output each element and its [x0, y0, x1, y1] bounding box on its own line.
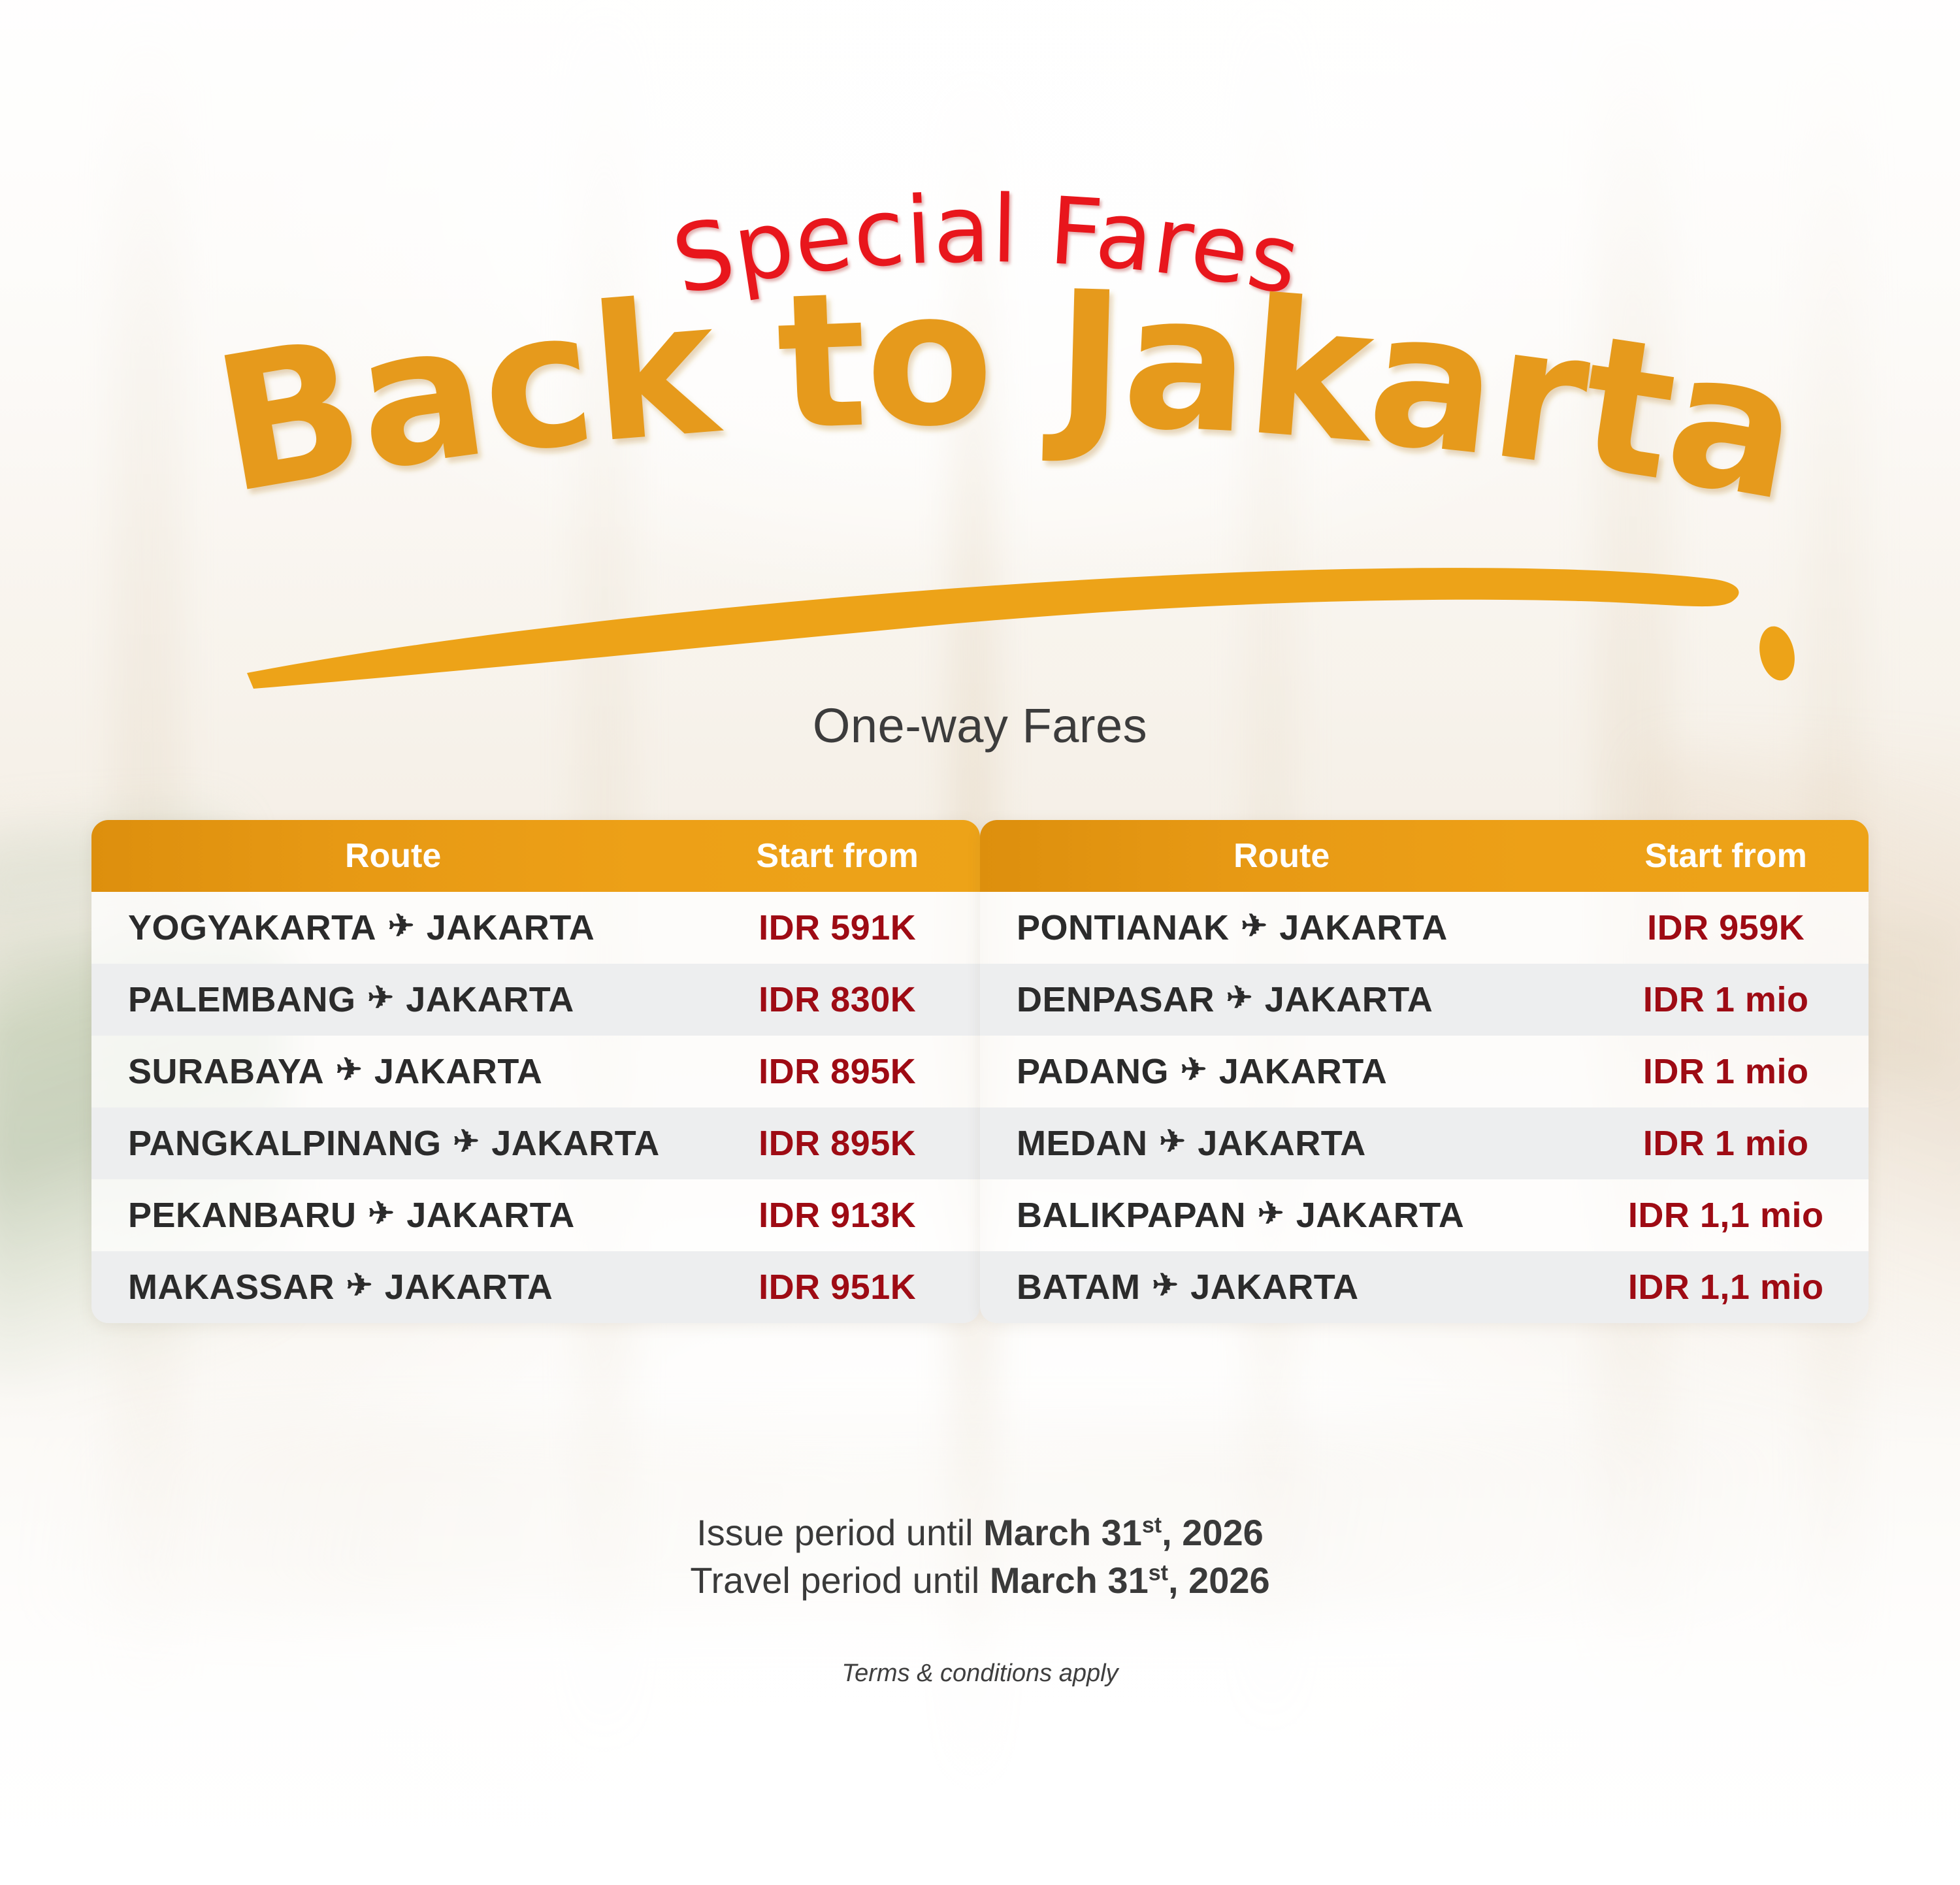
table-row[interactable]: BATAM ✈ JAKARTA IDR 1,1 mio [980, 1251, 1869, 1323]
right-header-route: Route [980, 836, 1583, 876]
route-cell: MAKASSAR ✈ JAKARTA [91, 1267, 694, 1307]
price-cell: IDR 895K [694, 1123, 980, 1164]
destination-label: JAKARTA [1198, 1123, 1366, 1164]
origin-label: DENPASAR [1017, 979, 1215, 1020]
destination-label: JAKARTA [406, 979, 574, 1020]
fare-tables-container: Route Start from YOGYAKARTA ✈ JAKARTA ID… [91, 820, 1869, 1323]
origin-label: SURABAYA [128, 1051, 324, 1092]
airplane-icon: ✈ [388, 911, 415, 942]
left-header-route: Route [91, 836, 694, 876]
promo-poster: Special Fares Back to Jakarta One-way Fa… [0, 0, 1960, 1885]
destination-label: JAKARTA [1265, 979, 1433, 1020]
airplane-icon: ✈ [1258, 1198, 1284, 1230]
route-cell: YOGYAKARTA ✈ JAKARTA [91, 908, 694, 948]
route-cell: MEDAN ✈ JAKARTA [980, 1123, 1583, 1164]
route-cell: PALEMBANG ✈ JAKARTA [91, 979, 694, 1020]
airplane-icon: ✈ [1152, 1270, 1179, 1302]
headline-textpath: Back to Jakarta [201, 250, 1811, 543]
table-row[interactable]: MAKASSAR ✈ JAKARTA IDR 951K [91, 1251, 980, 1323]
headline-block: Special Fares Back to Jakarta [0, 0, 1960, 706]
airplane-icon: ✈ [1181, 1055, 1207, 1086]
table-row[interactable]: PADANG ✈ JAKARTA IDR 1 mio [980, 1036, 1869, 1107]
route-cell: PONTIANAK ✈ JAKARTA [980, 908, 1583, 948]
destination-label: JAKARTA [1279, 908, 1448, 948]
swoosh-underline [247, 568, 1739, 689]
route-cell: DENPASAR ✈ JAKARTA [980, 979, 1583, 1020]
price-cell: IDR 1 mio [1583, 1123, 1869, 1164]
origin-label: PANGKALPINANG [128, 1123, 442, 1164]
destination-label: JAKARTA [385, 1267, 553, 1307]
airplane-icon: ✈ [453, 1126, 480, 1158]
terms-and-conditions-note: Terms & conditions apply [0, 1660, 1960, 1688]
table-row[interactable]: PEKANBARU ✈ JAKARTA IDR 913K [91, 1179, 980, 1251]
destination-label: JAKARTA [1296, 1195, 1465, 1236]
travel-period-year: , 2026 [1168, 1560, 1270, 1601]
destination-label: JAKARTA [491, 1123, 660, 1164]
price-cell: IDR 830K [694, 979, 980, 1020]
origin-label: YOGYAKARTA [128, 908, 376, 948]
travel-period-date: March 31 [990, 1560, 1149, 1601]
left-table-header-row: Route Start from [91, 820, 980, 892]
travel-period-label: Travel period until [690, 1560, 990, 1601]
table-row[interactable]: YOGYAKARTA ✈ JAKARTA IDR 591K [91, 892, 980, 964]
table-row[interactable]: SURABAYA ✈ JAKARTA IDR 895K [91, 1036, 980, 1107]
headline-back-to-jakarta: Back to Jakarta [201, 250, 1811, 543]
origin-label: MEDAN [1017, 1123, 1148, 1164]
price-cell: IDR 951K [694, 1267, 980, 1307]
airplane-icon: ✈ [1160, 1126, 1186, 1158]
left-header-start-from: Start from [694, 836, 980, 876]
airplane-icon: ✈ [1226, 983, 1253, 1014]
origin-label: PADANG [1017, 1051, 1169, 1092]
route-cell: PADANG ✈ JAKARTA [980, 1051, 1583, 1092]
issue-period-label: Issue period until [696, 1512, 983, 1553]
origin-label: BALIKPAPAN [1017, 1195, 1246, 1236]
route-cell: BALIKPAPAN ✈ JAKARTA [980, 1195, 1583, 1236]
table-row[interactable]: DENPASAR ✈ JAKARTA IDR 1 mio [980, 964, 1869, 1036]
issue-period-date: March 31 [983, 1512, 1142, 1553]
table-row[interactable]: BALIKPAPAN ✈ JAKARTA IDR 1,1 mio [980, 1179, 1869, 1251]
table-row[interactable]: PANGKALPINANG ✈ JAKARTA IDR 895K [91, 1107, 980, 1179]
origin-label: PALEMBANG [128, 979, 356, 1020]
destination-label: JAKARTA [1219, 1051, 1388, 1092]
right-table-header-row: Route Start from [980, 820, 1869, 892]
price-cell: IDR 1,1 mio [1583, 1195, 1869, 1236]
issue-period-year: , 2026 [1162, 1512, 1264, 1553]
price-cell: IDR 1 mio [1583, 979, 1869, 1020]
right-header-start-from: Start from [1583, 836, 1869, 876]
period-block: Issue period until March 31st, 2026 Trav… [0, 1509, 1960, 1605]
destination-label: JAKARTA [427, 908, 595, 948]
origin-label: MAKASSAR [128, 1267, 335, 1307]
price-cell: IDR 895K [694, 1051, 980, 1092]
table-row[interactable]: PONTIANAK ✈ JAKARTA IDR 959K [980, 892, 1869, 964]
swoosh-dot-accent [1755, 623, 1799, 684]
price-cell: IDR 959K [1583, 908, 1869, 948]
airplane-icon: ✈ [346, 1270, 373, 1302]
price-cell: IDR 1,1 mio [1583, 1267, 1869, 1307]
table-row[interactable]: PALEMBANG ✈ JAKARTA IDR 830K [91, 964, 980, 1036]
headline-svg: Special Fares Back to Jakarta [0, 0, 1960, 706]
issue-period-ordinal: st [1142, 1513, 1162, 1537]
price-cell: IDR 591K [694, 908, 980, 948]
price-cell: IDR 913K [694, 1195, 980, 1236]
left-fare-table: Route Start from YOGYAKARTA ✈ JAKARTA ID… [91, 820, 980, 1323]
issue-period-line: Issue period until March 31st, 2026 [0, 1509, 1960, 1557]
table-row[interactable]: MEDAN ✈ JAKARTA IDR 1 mio [980, 1107, 1869, 1179]
airplane-icon: ✈ [368, 1198, 395, 1230]
route-cell: SURABAYA ✈ JAKARTA [91, 1051, 694, 1092]
origin-label: PEKANBARU [128, 1195, 357, 1236]
airplane-icon: ✈ [1241, 911, 1268, 942]
right-fare-table: Route Start from PONTIANAK ✈ JAKARTA IDR… [980, 820, 1869, 1323]
travel-period-ordinal: st [1149, 1560, 1168, 1585]
airplane-icon: ✈ [336, 1055, 363, 1086]
price-cell: IDR 1 mio [1583, 1051, 1869, 1092]
destination-label: JAKARTA [1190, 1267, 1359, 1307]
travel-period-line: Travel period until March 31st, 2026 [0, 1557, 1960, 1605]
route-cell: PEKANBARU ✈ JAKARTA [91, 1195, 694, 1236]
origin-label: PONTIANAK [1017, 908, 1230, 948]
destination-label: JAKARTA [406, 1195, 575, 1236]
origin-label: BATAM [1017, 1267, 1140, 1307]
route-cell: PANGKALPINANG ✈ JAKARTA [91, 1123, 694, 1164]
destination-label: JAKARTA [374, 1051, 543, 1092]
airplane-icon: ✈ [368, 983, 395, 1014]
route-cell: BATAM ✈ JAKARTA [980, 1267, 1583, 1307]
subtitle-one-way-fares: One-way Fares [0, 698, 1960, 753]
